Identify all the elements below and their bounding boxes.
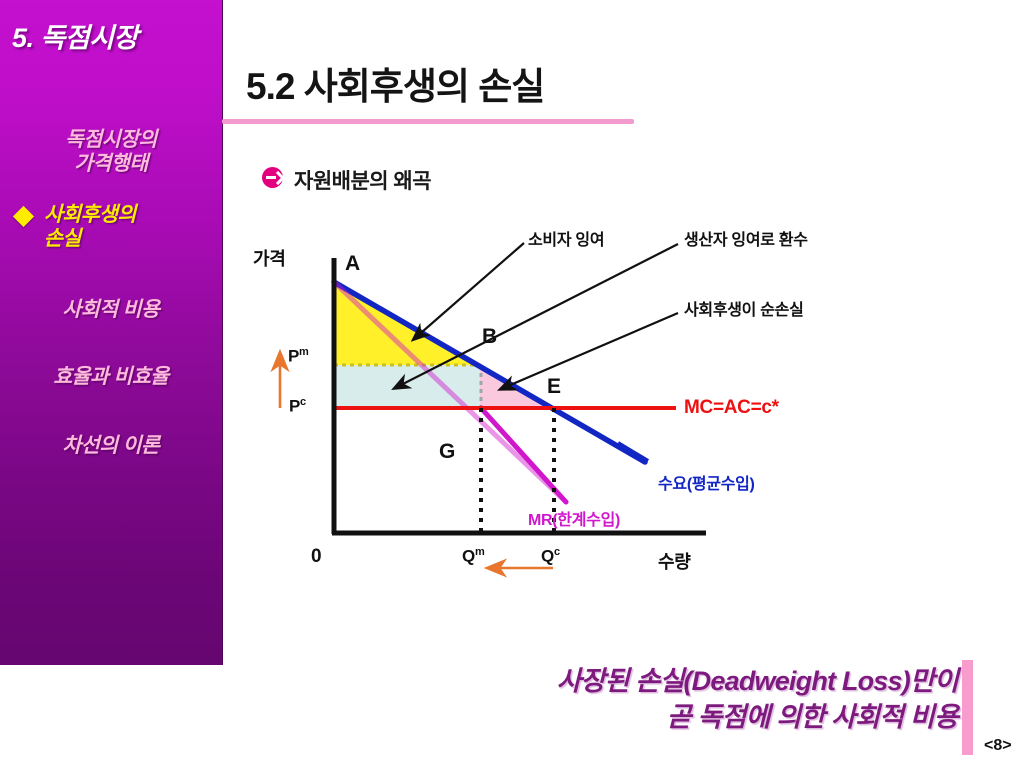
x-tick-qc-base: Q (541, 547, 554, 566)
y-tick-pm-base: P (288, 347, 299, 366)
sidebar-item-label: 독점시장의가격행태 (65, 128, 157, 175)
x-tick-qm: Qm (462, 546, 484, 567)
sidebar-item-social-cost[interactable]: 사회적 비용 (0, 298, 222, 322)
sidebar-item-label: 효율과 비효율 (53, 365, 168, 388)
legend-marginal-cost: MC=AC=c* (684, 397, 779, 419)
sidebar: 5. 독점시장 독점시장의가격행태 사회후생의손실 사회적 비용 효율과 비효율… (0, 0, 223, 665)
title-underline-rule (222, 119, 634, 124)
deadweight-loss-leader (501, 313, 678, 389)
y-tick-pm: Pm (288, 346, 309, 367)
sidebar-item-label: 사회적 비용 (63, 298, 160, 321)
demand-label-connector (618, 443, 648, 461)
annotation-consumer-surplus: 소비자 잉여 (528, 226, 604, 250)
y-tick-pc: Pc (289, 396, 306, 417)
point-label-b: B (482, 325, 497, 349)
slide-canvas: 5. 독점시장 독점시장의가격행태 사회후생의손실 사회적 비용 효율과 비효율… (0, 0, 1024, 768)
point-label-a: A (345, 252, 360, 276)
transfer-leader (395, 244, 678, 388)
x-axis-label: 수량 (658, 548, 691, 574)
consumer-surplus-leader (414, 243, 524, 339)
legend-demand-curve: 수요(평균수입) (658, 470, 755, 494)
consumer-surplus-region (334, 282, 480, 365)
y-tick-pc-sup: c (300, 396, 306, 408)
conclusion-line-2: 곧 독점에 의한 사회적 비용 (330, 700, 958, 736)
page-number: <8> (984, 737, 1012, 755)
x-tick-qm-base: Q (462, 547, 475, 566)
section-bullet-label: 자원배분의 왜곡 (294, 165, 431, 195)
sidebar-item-welfare-loss[interactable]: 사회후생의손실 (0, 203, 222, 251)
arrow-right-circle-icon (262, 167, 283, 188)
sidebar-item-label: 차선의 이론 (63, 434, 160, 457)
y-tick-pm-sup: m (299, 346, 308, 358)
producer-surplus-transfer-region (334, 365, 480, 408)
origin-label: 0 (311, 546, 321, 568)
marginal-revenue-curve (334, 282, 566, 502)
sidebar-item-efficiency[interactable]: 효율과 비효율 (0, 365, 222, 389)
sidebar-chapter-title: 5. 독점시장 (12, 16, 212, 55)
deadweight-loss-region (480, 365, 554, 408)
x-tick-qm-sup: m (475, 546, 484, 558)
conclusion-text: 사장된 손실(Deadweight Loss)만이 곧 독점에 의한 사회적 비… (330, 664, 958, 735)
legend-marginal-revenue: MR(한계수입) (528, 506, 620, 530)
sidebar-item-second-best[interactable]: 차선의 이론 (0, 434, 222, 458)
marginal-revenue-curve-solid (481, 408, 566, 502)
annotation-producer-transfer: 생산자 잉여로 환수 (684, 226, 808, 250)
page-title: 5.2 사회후생의 손실 (246, 56, 544, 110)
point-label-g: G (439, 440, 455, 464)
conclusion-line-1: 사장된 손실(Deadweight Loss)만이 (330, 664, 958, 700)
sidebar-item-label: 사회후생의손실 (0, 203, 222, 251)
annotation-deadweight-loss: 사회후생이 순손실 (684, 296, 804, 320)
demand-curve (334, 282, 645, 462)
sidebar-item-pricing-behavior[interactable]: 독점시장의가격행태 (0, 128, 222, 176)
footer-accent-bar (962, 660, 973, 755)
point-label-e: E (547, 375, 561, 399)
x-tick-qc: Qc (541, 546, 560, 567)
y-axis-label: 가격 (253, 245, 286, 271)
x-tick-qc-sup: c (554, 546, 560, 558)
y-tick-pc-base: P (289, 397, 300, 416)
